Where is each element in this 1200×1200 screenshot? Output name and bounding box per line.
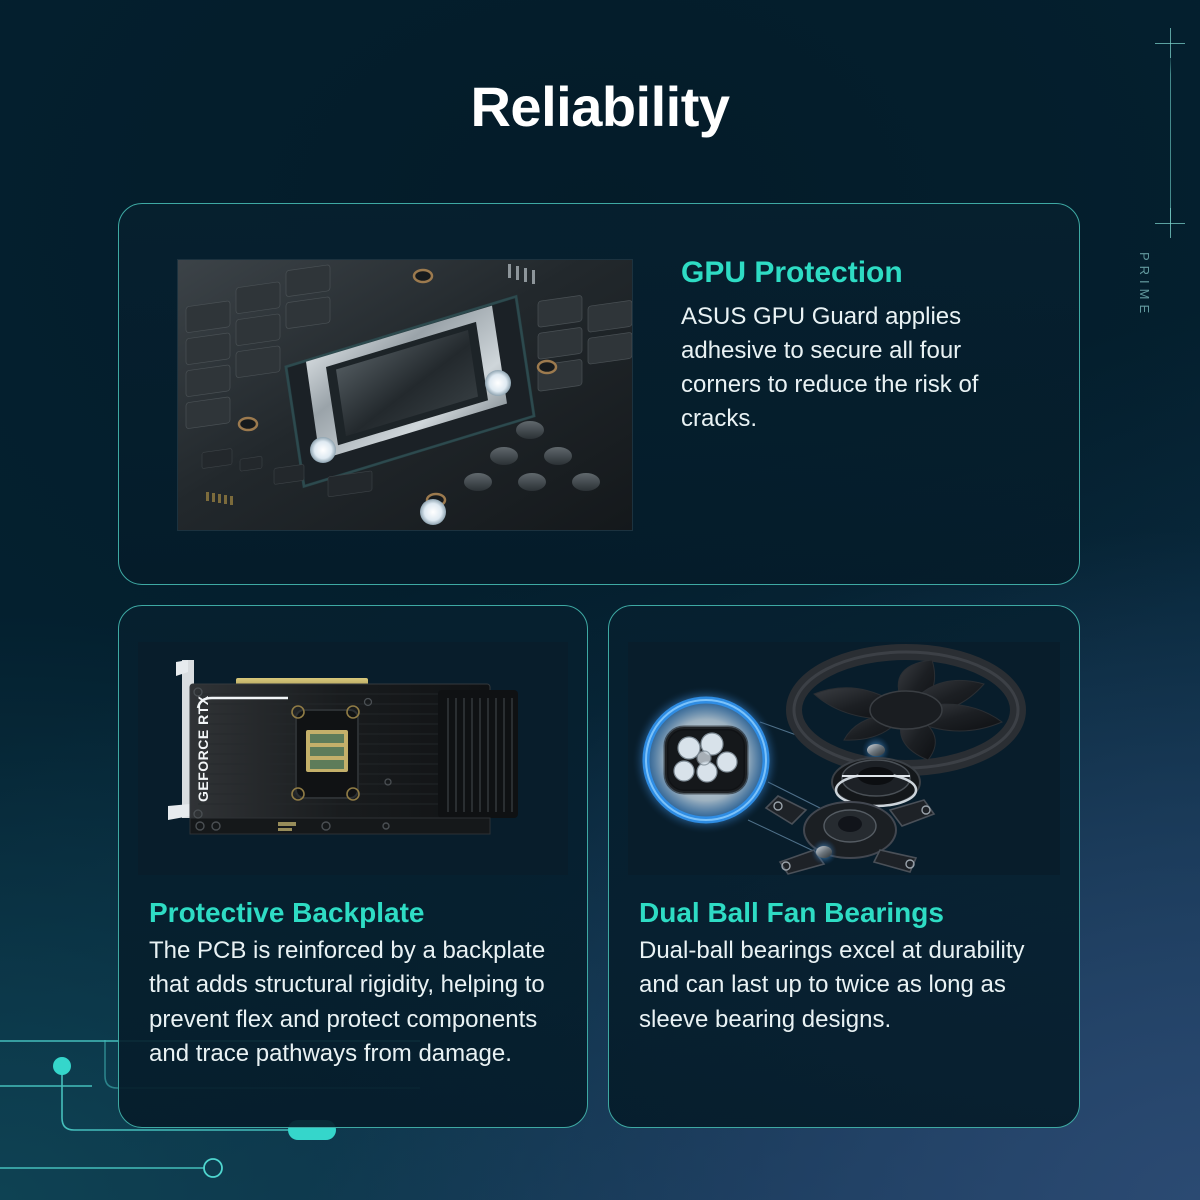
card-gpu-protection: GPU Protection ASUS GPU Guard applies ad… [118, 203, 1080, 585]
rail-label-prime: PRIME [1137, 252, 1152, 318]
page-title: Reliability [0, 74, 1200, 139]
fan-bearing-image [628, 642, 1060, 875]
plus-mark-icon [1155, 208, 1185, 238]
backplate-text: GEFORCE RTX [195, 695, 211, 802]
card-body: ASUS GPU Guard applies adhesive to secur… [681, 300, 1039, 436]
circuit-dot-hollow [204, 1159, 222, 1177]
card-heading: GPU Protection [681, 256, 1039, 290]
backplate-image: GEFORCE RTX [138, 642, 568, 875]
gpu-die-image [177, 259, 633, 531]
card-heading: Dual Ball Fan Bearings [639, 897, 1055, 928]
card-heading: Protective Backplate [149, 897, 563, 928]
card-dual-ball-fan-bearings: Dual Ball Fan Bearings Dual-ball bearing… [608, 605, 1080, 1128]
side-rail: PRIME [1140, 0, 1200, 420]
card-body: Dual-ball bearings excel at durability a… [639, 934, 1055, 1036]
plus-mark-icon [1155, 28, 1185, 58]
card-protective-backplate: GEFORCE RTX [118, 605, 588, 1128]
card-body: The PCB is reinforced by a backplate tha… [149, 934, 563, 1070]
circuit-dot-filled [53, 1057, 71, 1075]
